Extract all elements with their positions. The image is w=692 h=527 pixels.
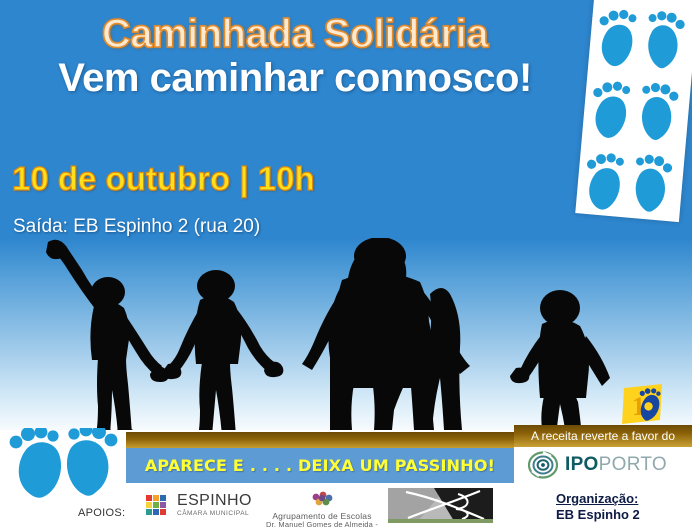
agrupamento-crest-icon xyxy=(305,489,339,507)
poster-title-line2: Vem caminhar connosco! xyxy=(0,58,590,98)
ipo-bold-text: IPO xyxy=(565,454,599,475)
porto-light-text: PORTO xyxy=(599,454,667,475)
poster-title-line1: Caminhada Solidária xyxy=(0,14,590,54)
ipo-porto-wordmark: IPOPORTO xyxy=(565,454,667,476)
footprint-pair-icon xyxy=(588,0,692,75)
beneficiary-caption: A receita reverte a favor do xyxy=(514,425,692,447)
sponsor-line1: ESPINHO xyxy=(177,492,252,509)
sponsor-espinho-camara-municipal: ESPINHO CÂMARA MUNICIPAL xyxy=(146,492,251,524)
slogan-band: APARECE E . . . . DEIXA UM PASSINHO! xyxy=(126,448,514,483)
espinho-wordmark: ESPINHO CÂMARA MUNICIPAL xyxy=(177,492,252,518)
supports-label: APOIOS: xyxy=(78,507,125,519)
walking-family-silhouettes-icon xyxy=(30,238,670,430)
number-one-footprint-badge-icon: 1 xyxy=(618,382,666,426)
footprints-strip-icon xyxy=(575,0,692,222)
sponsor-line2: CÂMARA MUNICIPAL xyxy=(177,509,252,518)
footprint-pair-icon xyxy=(582,68,692,147)
event-start-point: Saída: EB Espinho 2 (rua 20) xyxy=(13,216,260,238)
organization-value: EB Espinho 2 xyxy=(556,507,640,523)
sponsor-abstract-partner-logo xyxy=(388,488,493,525)
agrupamento-wordmark: Agrupamento de Escolas Dr. Manuel Gomes … xyxy=(258,512,386,527)
event-date: 10 de outubro | 10h xyxy=(12,160,315,198)
sponsor-line2: Dr. Manuel Gomes de Almeida - Espinho xyxy=(258,521,386,527)
ipo-porto-logo: IPOPORTO xyxy=(514,447,692,483)
organization-label: Organização: xyxy=(556,491,640,507)
slogan-text: APARECE E . . . . DEIXA UM PASSINHO! xyxy=(126,448,514,483)
organization-block: Organização: EB Espinho 2 xyxy=(556,491,640,523)
ipo-spiral-emblem-icon xyxy=(528,451,558,479)
espinho-grid-icon xyxy=(146,494,172,520)
footprints-oval-logo-icon xyxy=(4,428,122,508)
poster-canvas: Caminhada Solidária Vem caminhar connosc… xyxy=(0,0,692,527)
sponsor-agrupamento-escolas: Agrupamento de Escolas Dr. Manuel Gomes … xyxy=(258,489,386,525)
footprint-pair-icon xyxy=(576,139,686,218)
headline-block: Caminhada Solidária Vem caminhar connosc… xyxy=(0,14,590,98)
